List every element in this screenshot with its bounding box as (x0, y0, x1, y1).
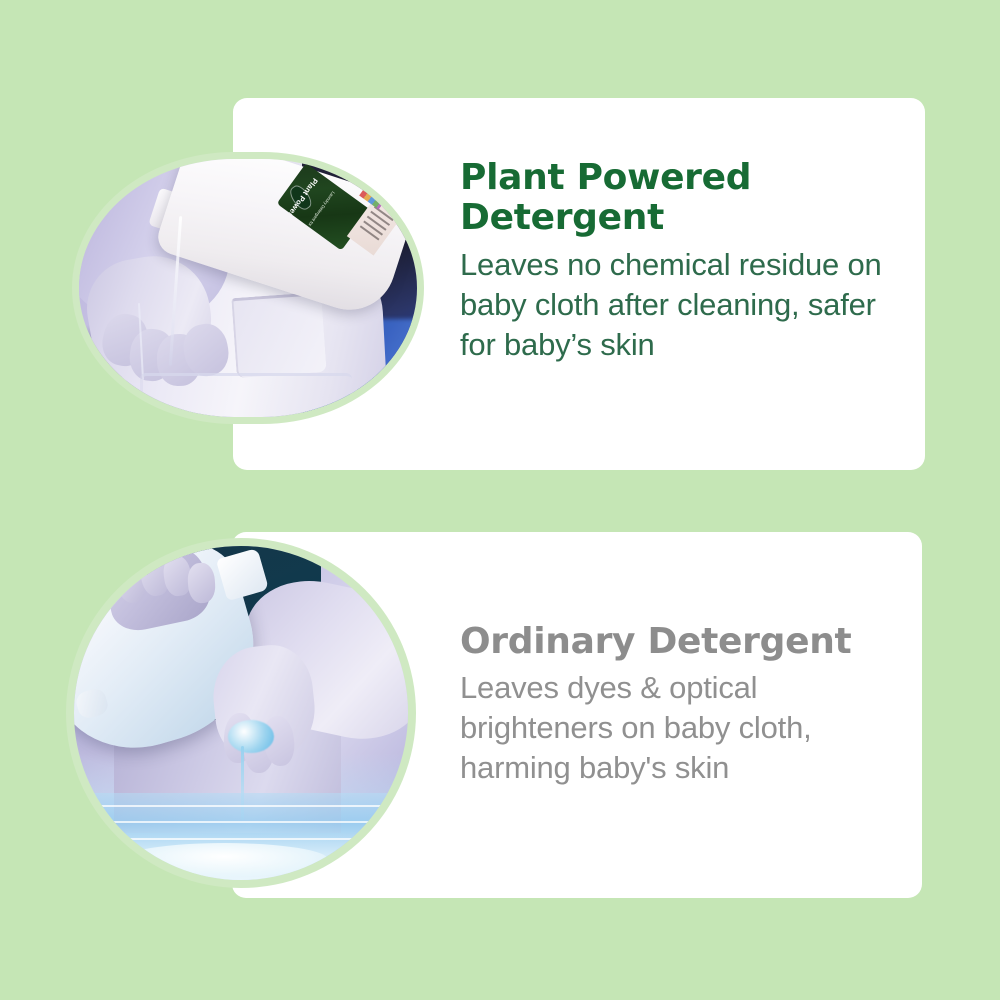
fabric-in-water (121, 843, 328, 876)
body-ordinary: Leaves dyes & optical brighteners on bab… (460, 668, 910, 788)
ordinary-detergent-photo (66, 538, 416, 888)
lab-coat-pocket (232, 292, 327, 378)
water-ripple (87, 805, 394, 807)
text-block-plant-powered: Plant Powered Detergent Leaves no chemic… (460, 158, 900, 365)
body-plant-powered: Leaves no chemical residue on baby cloth… (460, 245, 900, 365)
photo-frame-plant-powered: Plant Powered Laundry Detergent for Babi… (79, 159, 417, 417)
water-ripple (87, 821, 394, 823)
photo-ordinary-scene (74, 546, 408, 880)
text-block-ordinary: Ordinary Detergent Leaves dyes & optical… (460, 622, 910, 788)
fabric-tray (140, 373, 353, 417)
photo-plant-powered-scene: Plant Powered Laundry Detergent for Babi… (79, 159, 417, 417)
heading-plant-powered: Plant Powered Detergent (460, 158, 900, 239)
heading-ordinary: Ordinary Detergent (460, 622, 910, 662)
plant-powered-detergent-photo: Plant Powered Laundry Detergent for Babi… (72, 152, 424, 424)
water-ripple (87, 838, 394, 840)
photo-frame-ordinary (74, 546, 408, 880)
comparison-infographic: Plant Powered Laundry Detergent for Babi… (0, 0, 1000, 1000)
blue-detergent-drop (228, 720, 275, 753)
